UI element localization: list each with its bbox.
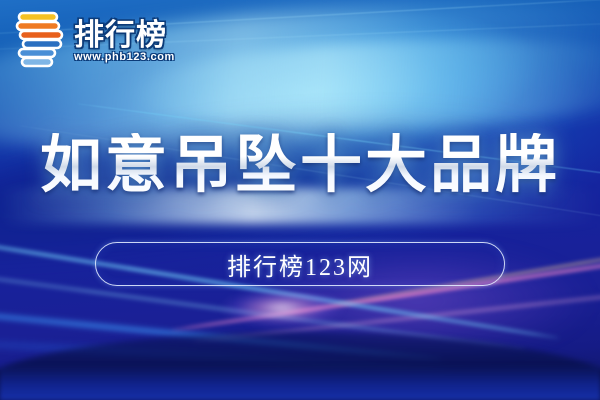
background-light-crosspoint — [204, 280, 360, 336]
page-title: 如意吊坠十大品牌 — [0, 133, 600, 198]
background-trail-cyan-3 — [0, 299, 443, 361]
logo-name-cn: 排行榜 — [74, 21, 175, 52]
logo-wordmark: 排行榜 www.phb123.com — [74, 21, 175, 64]
subtitle-pill: 排行榜123网 — [95, 242, 505, 286]
background-trail-pink-2 — [193, 283, 600, 342]
promo-banner: 排行榜 www.phb123.com 如意吊坠十大品牌 排行榜123网 — [0, 0, 600, 400]
logo-url: www.phb123.com — [74, 51, 175, 63]
background-bottom-band — [0, 332, 600, 400]
site-logo[interactable]: 排行榜 www.phb123.com — [14, 10, 175, 72]
background-trail-cyan-4 — [0, 336, 450, 372]
background-bottom-band-glow — [0, 364, 600, 400]
ranking-bars-logo-icon — [14, 10, 70, 72]
background-swoosh-secondary — [131, 30, 600, 137]
subtitle-text: 排行榜123网 — [227, 247, 373, 282]
